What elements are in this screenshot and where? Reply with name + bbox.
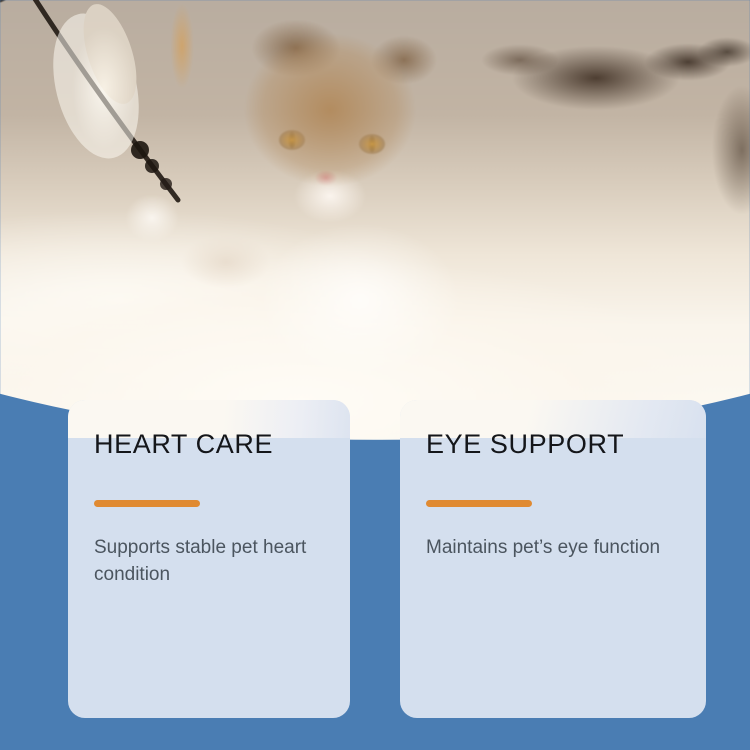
promo-graphic: HEART CARE Supports stable pet heart con… — [0, 0, 750, 750]
card-body-eye-support: Maintains pet’s eye function — [426, 534, 680, 562]
card-accent-rule — [426, 500, 532, 507]
feature-cards: HEART CARE Supports stable pet heart con… — [0, 0, 750, 750]
feature-card-heart-care[interactable]: HEART CARE Supports stable pet heart con… — [68, 400, 350, 718]
card-title-eye-support: EYE SUPPORT — [426, 430, 680, 460]
card-body-heart-care: Supports stable pet heart condition — [94, 534, 324, 589]
card-title-heart-care: HEART CARE — [94, 430, 324, 460]
feature-card-eye-support[interactable]: EYE SUPPORT Maintains pet’s eye function — [400, 400, 706, 718]
card-accent-rule — [94, 500, 200, 507]
